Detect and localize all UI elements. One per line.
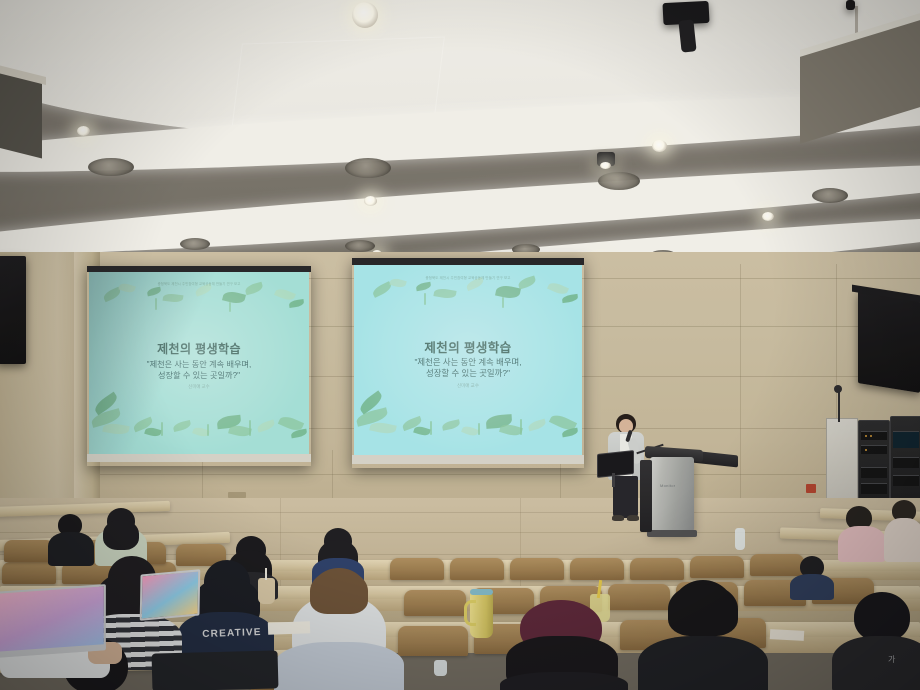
head bbox=[854, 592, 910, 642]
ceiling-air-vent bbox=[812, 188, 848, 203]
presenter-monitor bbox=[597, 450, 634, 478]
slide-credit: 신미애 교수 bbox=[89, 384, 309, 390]
seat bbox=[690, 556, 744, 578]
presenter-pants bbox=[613, 476, 638, 518]
presenter-shoe bbox=[627, 515, 639, 521]
podium-base bbox=[647, 530, 697, 537]
hair bbox=[668, 584, 738, 636]
ceiling-air-vent bbox=[345, 240, 375, 252]
presenter-shoe bbox=[612, 515, 624, 521]
student-maroon-cap bbox=[500, 600, 628, 690]
iced-coffee-cup bbox=[258, 578, 275, 604]
paper-sheet bbox=[268, 621, 310, 634]
seat bbox=[2, 562, 56, 584]
paper-sheet bbox=[770, 629, 804, 641]
ceiling-air-vent bbox=[345, 158, 391, 178]
slide-credit: 신미애 교수 bbox=[354, 383, 582, 389]
torso bbox=[500, 672, 628, 690]
monitor-stand bbox=[612, 473, 615, 487]
tumbler-handle bbox=[464, 600, 476, 626]
screen-top-casing bbox=[352, 258, 584, 265]
seat bbox=[570, 558, 624, 580]
water-bottle bbox=[735, 528, 745, 550]
slide-title: 제천의 평생학습 bbox=[89, 340, 309, 357]
ceiling-air-vent bbox=[88, 158, 134, 176]
podium-left-panel bbox=[640, 460, 652, 532]
wall-speaker bbox=[858, 291, 920, 393]
podium: Monitor bbox=[650, 457, 694, 533]
podium-brand-label: Monitor bbox=[660, 483, 675, 488]
ceiling-mount-bracket bbox=[846, 0, 855, 10]
ceiling-spotlight bbox=[762, 212, 774, 221]
torso bbox=[638, 636, 768, 690]
hair bbox=[310, 570, 368, 614]
seat bbox=[404, 590, 466, 616]
attendee-dark-right bbox=[884, 500, 920, 560]
torso bbox=[838, 526, 886, 562]
student-black-center bbox=[638, 580, 768, 690]
wall-seam bbox=[740, 264, 741, 520]
student-right-dark-shirt: 가 bbox=[832, 592, 920, 690]
seat bbox=[510, 558, 564, 580]
wall-speaker bbox=[0, 256, 26, 364]
ceiling-sensor-light bbox=[600, 162, 611, 169]
seat bbox=[450, 558, 504, 580]
left-screen-surface: 충청북도 제천시 주민참여형 교육공동체 만들기 연구 보고 제천의 평생학습 … bbox=[89, 272, 309, 454]
slide-header: 충청북도 제천시 주민참여형 교육공동체 만들기 연구 보고 bbox=[354, 275, 582, 280]
torso bbox=[274, 642, 404, 690]
seat bbox=[4, 540, 54, 562]
ceiling-spotlight bbox=[352, 2, 378, 28]
lecture-hall-photo: 충청북도 제천시 주민참여형 교육공동체 만들기 연구 보고 제천의 평생학습 … bbox=[0, 0, 920, 690]
screen-bottom-edge bbox=[87, 454, 311, 462]
ceiling-spotlight bbox=[77, 126, 90, 136]
hair-long bbox=[103, 520, 139, 550]
right-projection-screen: 충청북도 제천시 주민참여형 교육공동체 만들기 연구 보고 제천의 평생학습 … bbox=[352, 258, 584, 468]
laptop-sleeve bbox=[152, 650, 279, 690]
projector-lens bbox=[678, 19, 696, 52]
student-rear-right-small bbox=[790, 556, 834, 598]
seat bbox=[398, 626, 468, 656]
seat bbox=[630, 558, 684, 580]
tablet[interactable] bbox=[140, 569, 201, 620]
right-screen-surface: 충청북도 제천시 주민참여형 교육공동체 만들기 연구 보고 제천의 평생학습 … bbox=[354, 265, 582, 455]
exit-sign bbox=[806, 484, 816, 493]
ceiling-air-vent bbox=[598, 172, 640, 190]
torso bbox=[884, 518, 920, 562]
wall-seam bbox=[0, 474, 920, 475]
torso bbox=[832, 636, 920, 690]
slide-header: 충청북도 제천시 주민참여형 교육공동체 만들기 연구 보고 bbox=[89, 281, 309, 286]
tumbler-lid bbox=[470, 589, 493, 595]
microphone-stand bbox=[838, 390, 840, 422]
ceiling-spotlight bbox=[364, 196, 377, 206]
slide-subtitle-line2: 성장할 수 있는 곳일까?" bbox=[89, 369, 309, 381]
attendee-pink-right bbox=[838, 506, 886, 560]
water-bottle bbox=[434, 660, 447, 676]
left-projection-screen: 충청북도 제천시 주민참여형 교육공동체 만들기 연구 보고 제천의 평생학습 … bbox=[87, 266, 311, 466]
shirt-graphic: 가 bbox=[888, 654, 895, 665]
microphone-head bbox=[834, 385, 842, 393]
ceiling-spotlight bbox=[652, 140, 667, 152]
slide-subtitle-line2: 성장할 수 있는 곳일까?" bbox=[354, 367, 582, 379]
torso bbox=[790, 574, 834, 600]
screen-bottom-edge bbox=[352, 455, 584, 464]
cup-straw bbox=[265, 568, 267, 580]
slide-title: 제천의 평생학습 bbox=[354, 337, 582, 356]
ceiling-air-vent bbox=[180, 238, 210, 250]
